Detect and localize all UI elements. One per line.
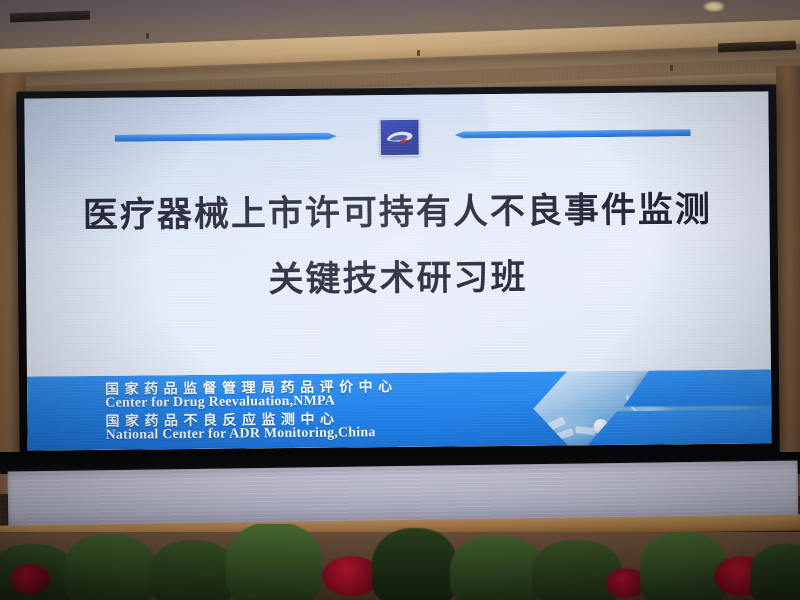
wall-fixture bbox=[146, 33, 149, 39]
stage-plants bbox=[0, 524, 800, 600]
wall-column-right bbox=[776, 66, 800, 496]
header-bar-left bbox=[115, 133, 337, 142]
footer-org1-cn: 国家药品监督管理局药品评价中心 bbox=[105, 379, 398, 396]
slide-title-block: 医疗器械上市许可持有人不良事件监测 关键技术研习班 bbox=[25, 187, 770, 304]
led-screen-bezel: 医疗器械上市许可持有人不良事件监测 关键技术研习班 国家药品监督管理局药品评价中… bbox=[16, 84, 780, 461]
ceiling-downlight-icon bbox=[703, 1, 725, 12]
header-bar-right bbox=[455, 129, 691, 138]
slide-title-line-2: 关键技术研习班 bbox=[26, 253, 770, 304]
slide-footer: 国家药品监督管理局药品评价中心 Center for Drug Reevalua… bbox=[27, 369, 772, 450]
slide-title-line-1: 医疗器械上市许可持有人不良事件监测 bbox=[25, 187, 769, 238]
wall-fixture bbox=[670, 65, 673, 71]
plant bbox=[450, 536, 544, 600]
led-screen-display: 医疗器械上市许可持有人不良事件监测 关键技术研习班 国家药品监督管理局药品评价中… bbox=[24, 91, 771, 450]
conference-hall-scene: 医疗器械上市许可持有人不良事件监测 关键技术研习班 国家药品监督管理局药品评价中… bbox=[0, 0, 800, 600]
footer-organization-block: 国家药品监督管理局药品评价中心 Center for Drug Reevalua… bbox=[105, 379, 398, 445]
footer-org1-en: Center for Drug Reevaluation,NMPA bbox=[105, 394, 398, 411]
footer-accent-lower-right bbox=[587, 409, 771, 445]
plant bbox=[226, 524, 322, 600]
plant bbox=[64, 534, 156, 600]
plant bbox=[750, 544, 800, 600]
slide-header bbox=[25, 113, 769, 166]
plant bbox=[150, 540, 236, 600]
footer-org2-en: National Center for ADR Monitoring,China bbox=[105, 426, 398, 443]
nmpa-logo-icon bbox=[380, 119, 420, 156]
plant bbox=[640, 532, 728, 600]
plant bbox=[372, 528, 458, 600]
flower bbox=[10, 564, 50, 594]
wall-fixture bbox=[417, 50, 420, 56]
